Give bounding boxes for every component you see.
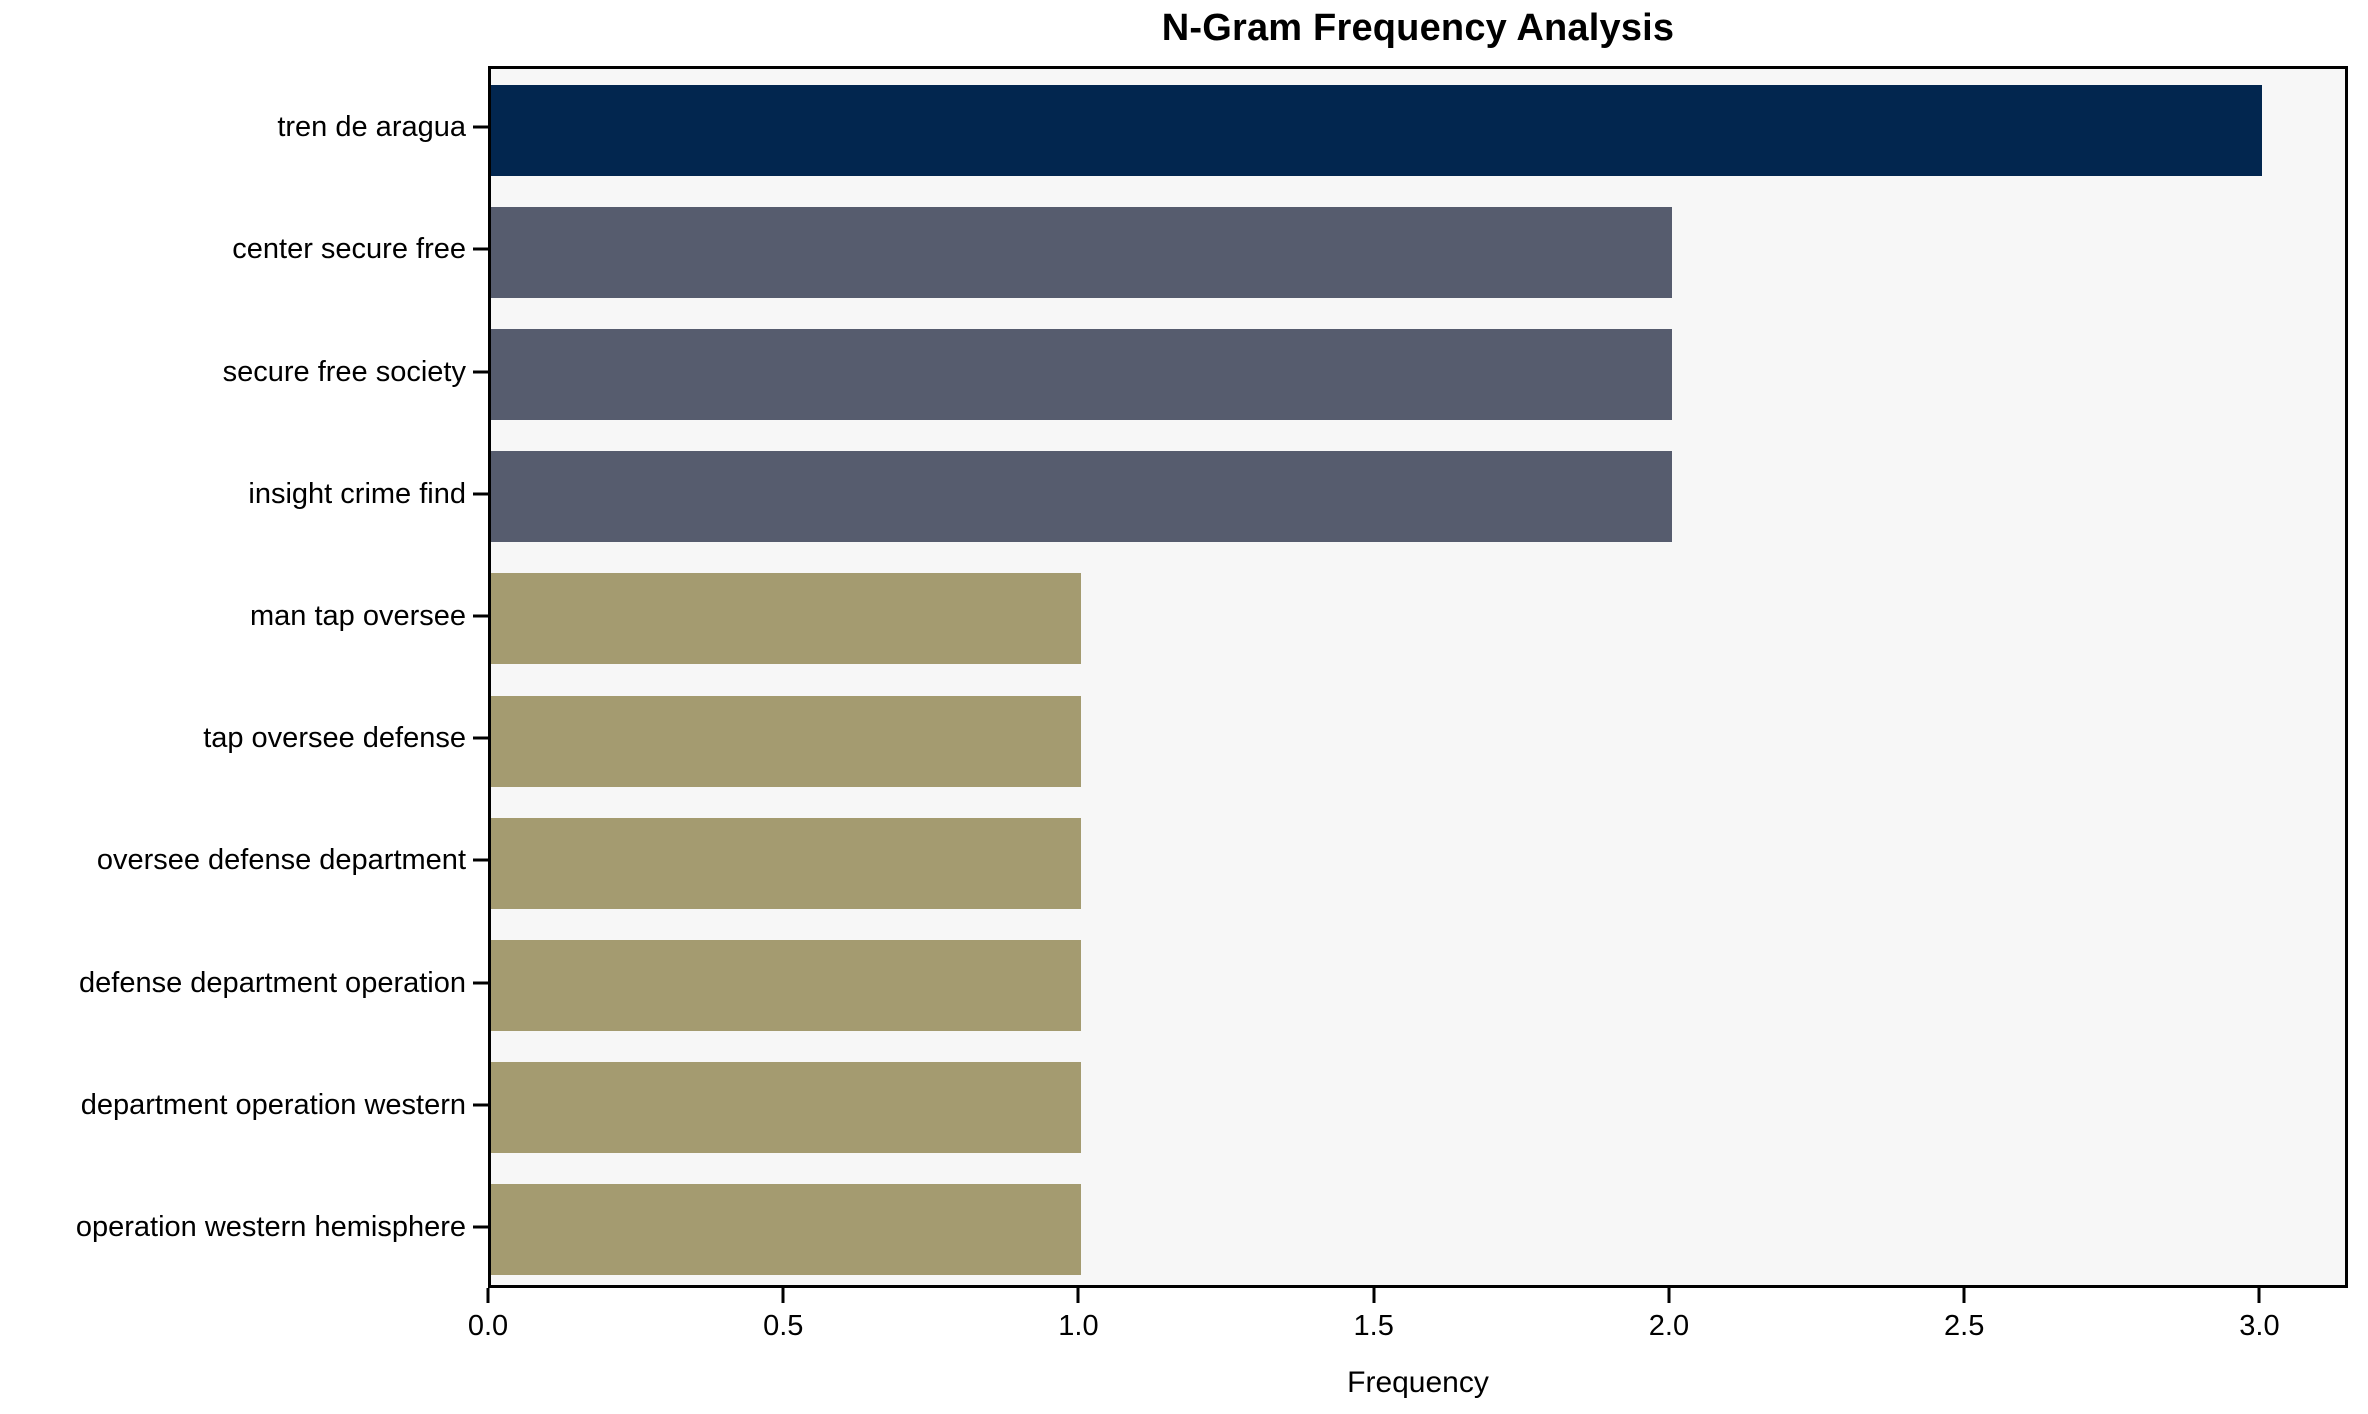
y-tick-label: tap oversee defense — [203, 723, 466, 753]
bars-layer — [491, 69, 2345, 1285]
y-tick-label: department operation western — [81, 1090, 466, 1120]
x-tick-mark — [487, 1288, 490, 1303]
chart-title: N-Gram Frequency Analysis — [488, 4, 2348, 52]
ngram-frequency-chart: N-Gram Frequency Analysis tren de aragua… — [0, 0, 2368, 1414]
y-tick-mark — [473, 248, 488, 251]
bar — [491, 1184, 1081, 1275]
x-tick-mark — [1372, 1288, 1375, 1303]
x-tick-mark — [1077, 1288, 1080, 1303]
y-tick-label: tren de aragua — [277, 112, 466, 142]
bar — [491, 85, 2262, 176]
x-tick-label: 1.5 — [1354, 1310, 1394, 1343]
x-tick-mark — [2258, 1288, 2261, 1303]
x-tick-label: 3.0 — [2239, 1310, 2279, 1343]
y-tick-mark — [473, 492, 488, 495]
y-tick-mark — [473, 1103, 488, 1106]
y-axis: tren de araguacenter secure freesecure f… — [0, 66, 488, 1288]
y-tick-label: insight crime find — [248, 479, 466, 509]
y-tick-mark — [473, 1225, 488, 1228]
bar — [491, 207, 1672, 298]
bar — [491, 451, 1672, 542]
x-tick-mark — [782, 1288, 785, 1303]
y-tick-mark — [473, 981, 488, 984]
y-tick-mark — [473, 126, 488, 129]
bar — [491, 573, 1081, 664]
bar — [491, 696, 1081, 787]
y-tick-mark — [473, 859, 488, 862]
x-tick-label: 0.0 — [468, 1310, 508, 1343]
x-axis-title: Frequency — [488, 1366, 2348, 1400]
x-tick-label: 2.0 — [1649, 1310, 1689, 1343]
y-tick-label: secure free society — [223, 357, 466, 387]
bar — [491, 940, 1081, 1031]
plot-area — [488, 66, 2348, 1288]
bar — [491, 1062, 1081, 1153]
y-tick-label: oversee defense department — [97, 845, 466, 875]
x-axis: Frequency 0.00.51.01.52.02.53.0 — [488, 1288, 2348, 1414]
x-tick-label: 2.5 — [1944, 1310, 1984, 1343]
y-tick-label: man tap oversee — [250, 601, 466, 631]
y-tick-label: operation western hemisphere — [76, 1212, 466, 1242]
x-tick-mark — [1963, 1288, 1966, 1303]
x-tick-label: 1.0 — [1058, 1310, 1098, 1343]
y-tick-mark — [473, 614, 488, 617]
y-tick-label: center secure free — [232, 234, 466, 264]
y-tick-mark — [473, 737, 488, 740]
x-tick-mark — [1667, 1288, 1670, 1303]
bar — [491, 329, 1672, 420]
y-tick-label: defense department operation — [79, 968, 466, 998]
bar — [491, 818, 1081, 909]
x-tick-label: 0.5 — [763, 1310, 803, 1343]
y-tick-mark — [473, 370, 488, 373]
